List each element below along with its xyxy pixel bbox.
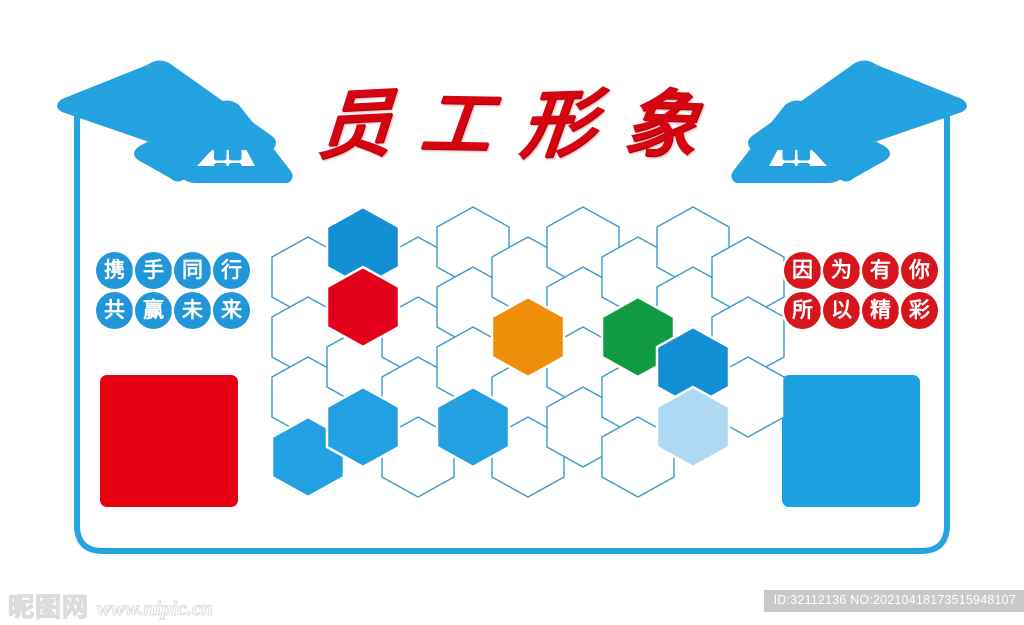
slogan-left-bubble-4: 行 xyxy=(213,252,250,289)
watermark-id-bar: ID:32112136 NO:20210418173515948107 xyxy=(764,590,1024,612)
slogan-right-row-1: 因 为 有 你 xyxy=(784,252,938,289)
house-roof-right xyxy=(731,61,967,184)
slogan-right-bubble-4: 你 xyxy=(901,252,938,289)
slogan-left-bubble-5: 共 xyxy=(96,292,133,329)
slogan-left-bubble-6: 赢 xyxy=(135,292,172,329)
slogan-right-bubble-7: 精 xyxy=(862,292,899,329)
slogan-left-row-2: 共 赢 未 来 xyxy=(96,292,250,329)
slogan-left-bubble-7: 未 xyxy=(174,292,211,329)
photo-panel-right[interactable] xyxy=(782,375,920,507)
slogan-left: 携 手 同 行 共 赢 未 来 xyxy=(96,252,250,329)
roof-right-post xyxy=(944,107,950,159)
roof-left-post xyxy=(74,107,80,159)
slogan-right-bubble-3: 有 xyxy=(862,252,899,289)
honeycomb-grid xyxy=(272,207,784,497)
slogan-right-bubble-5: 所 xyxy=(784,292,821,329)
slogan-right-row-2: 所 以 精 彩 xyxy=(784,292,938,329)
slogan-left-bubble-8: 来 xyxy=(213,292,250,329)
slogan-left-row-1: 携 手 同 行 xyxy=(96,252,250,289)
slogan-left-bubble-3: 同 xyxy=(174,252,211,289)
slogan-right: 因 为 有 你 所 以 精 彩 xyxy=(784,252,938,329)
house-roof-left xyxy=(57,61,293,184)
slogan-right-bubble-6: 以 xyxy=(823,292,860,329)
slogan-right-bubble-8: 彩 xyxy=(901,292,938,329)
wall-design-canvas: 员 工 形 象 携 手 同 行 共 赢 未 来 因 为 有 你 所 以 精 xyxy=(0,0,1024,625)
slogan-left-bubble-1: 携 xyxy=(96,252,133,289)
slogan-right-bubble-2: 为 xyxy=(823,252,860,289)
photo-panel-left[interactable] xyxy=(100,375,238,507)
slogan-left-bubble-2: 手 xyxy=(135,252,172,289)
slogan-right-bubble-1: 因 xyxy=(784,252,821,289)
